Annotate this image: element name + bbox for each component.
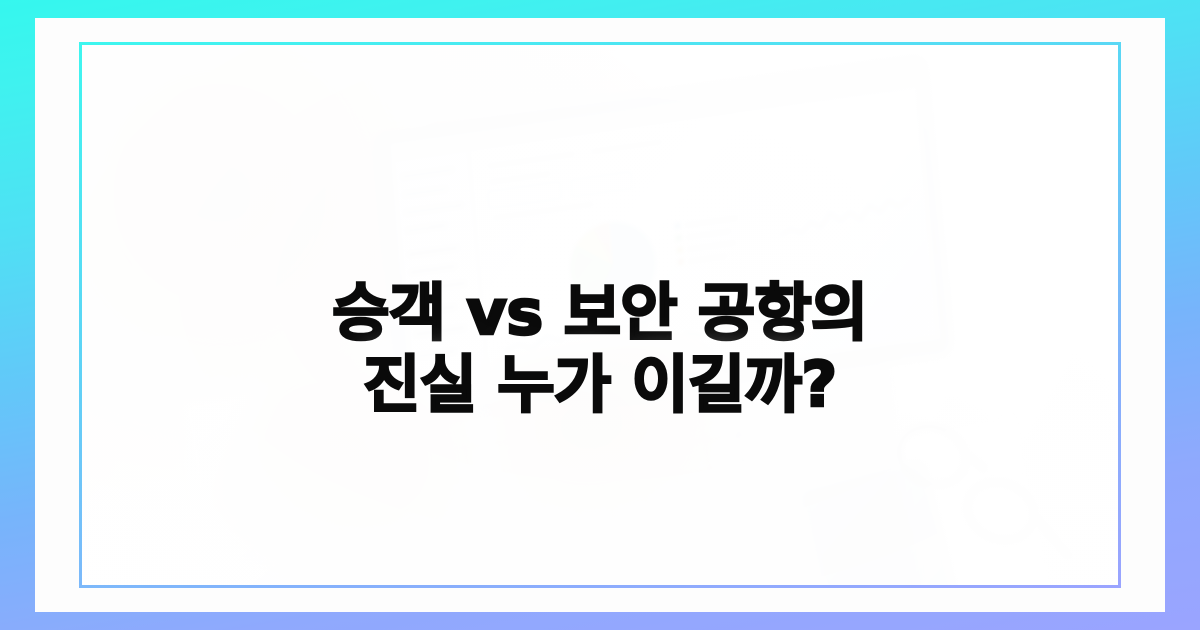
sidebar-item — [417, 349, 455, 358]
legend-swatch-icon — [678, 259, 684, 266]
sparkline-chart — [779, 191, 911, 243]
inner-white-panel: 승객 vs 보안 공항의 진실 누가 이길까? — [35, 18, 1165, 612]
screen-text-line — [489, 153, 574, 168]
right-hand — [490, 330, 744, 550]
photo-accent-frame: 승객 vs 보안 공항의 진실 누가 이길까? — [79, 42, 1121, 588]
screen-text-line — [592, 141, 662, 154]
sidebar-item — [413, 305, 455, 315]
sidebar-item — [408, 246, 458, 257]
sidebar-item — [405, 203, 463, 215]
pie-legend — [674, 211, 767, 273]
sidebar-item — [415, 326, 465, 337]
sidebar-item — [412, 281, 466, 293]
legend-label — [686, 216, 738, 226]
legend-swatch-icon — [677, 247, 683, 254]
sidebar-item — [403, 187, 447, 197]
filter-chip — [487, 181, 562, 209]
thumbnail-card: 승객 vs 보안 공항의 진실 누가 이길까? — [0, 0, 1200, 630]
pie-chart — [567, 217, 660, 315]
sidebar-item — [410, 264, 456, 274]
sidebar-item — [402, 168, 454, 179]
sidebar-item — [406, 223, 446, 233]
screen-text-line — [490, 172, 550, 183]
legend-label — [687, 229, 731, 238]
legend-label — [689, 254, 727, 262]
legend-swatch-icon — [676, 235, 682, 242]
browser-topbar — [391, 70, 917, 160]
legend-swatch-icon — [674, 223, 680, 230]
background-photo — [82, 45, 1118, 585]
filter-chip — [570, 171, 633, 198]
legend-label — [688, 241, 736, 251]
